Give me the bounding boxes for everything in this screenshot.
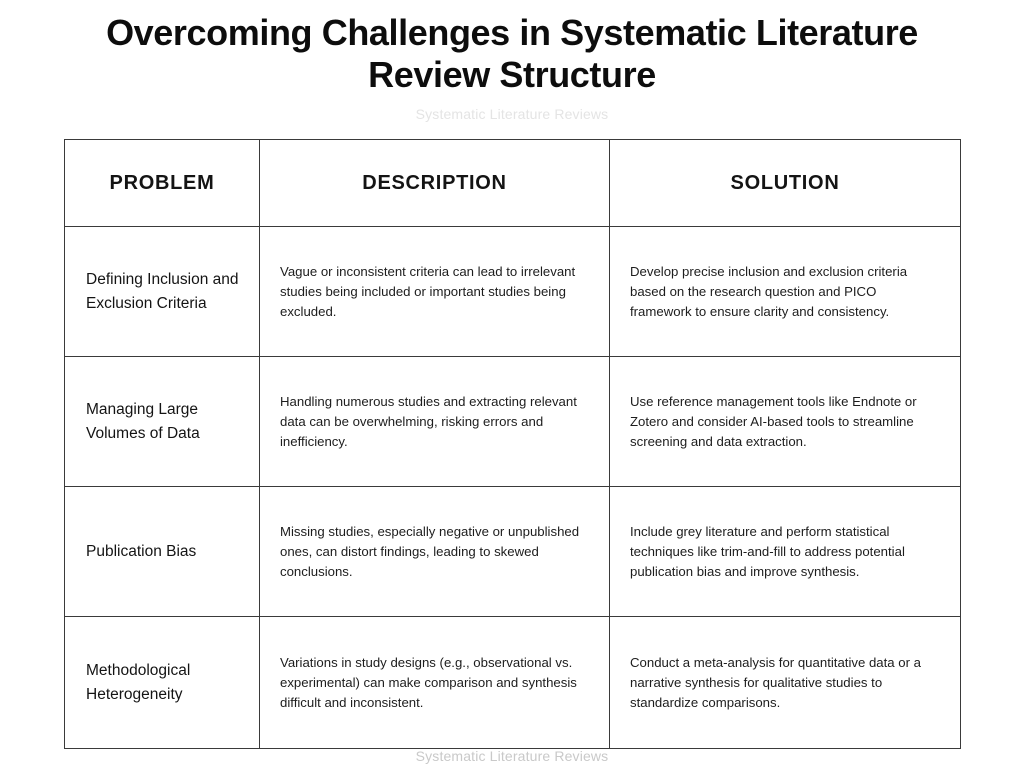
cell-problem: Publication Bias <box>65 487 260 617</box>
slide-canvas: Overcoming Challenges in Systematic Lite… <box>0 0 1024 768</box>
table-row: Managing Large Volumes of Data Handling … <box>65 357 961 487</box>
column-header-description: DESCRIPTION <box>260 140 610 227</box>
cell-description: Missing studies, especially negative or … <box>260 487 610 617</box>
cell-problem: Managing Large Volumes of Data <box>65 357 260 487</box>
table-row: Publication Bias Missing studies, especi… <box>65 487 961 617</box>
table-header: PROBLEM DESCRIPTION SOLUTION <box>65 140 961 227</box>
cell-problem: Defining Inclusion and Exclusion Criteri… <box>65 227 260 357</box>
title-block: Overcoming Challenges in Systematic Lite… <box>0 12 1024 123</box>
table-body: Defining Inclusion and Exclusion Criteri… <box>65 227 961 749</box>
cell-solution: Use reference management tools like Endn… <box>610 357 961 487</box>
cell-problem: Methodological Heterogeneity <box>65 617 260 749</box>
cell-description: Handling numerous studies and extracting… <box>260 357 610 487</box>
footer-watermark: Systematic Literature Reviews <box>0 746 1024 766</box>
column-header-problem: PROBLEM <box>65 140 260 227</box>
cell-solution: Include grey literature and perform stat… <box>610 487 961 617</box>
cell-solution: Develop precise inclusion and exclusion … <box>610 227 961 357</box>
cell-description: Vague or inconsistent criteria can lead … <box>260 227 610 357</box>
table-row: Defining Inclusion and Exclusion Criteri… <box>65 227 961 357</box>
cell-solution: Conduct a meta-analysis for quantitative… <box>610 617 961 749</box>
column-header-solution: SOLUTION <box>610 140 961 227</box>
cell-description: Variations in study designs (e.g., obser… <box>260 617 610 749</box>
page-title: Overcoming Challenges in Systematic Lite… <box>0 12 1024 96</box>
table-header-row: PROBLEM DESCRIPTION SOLUTION <box>65 140 961 227</box>
comparison-table-container: PROBLEM DESCRIPTION SOLUTION Defining In… <box>64 139 960 749</box>
page-subtitle: Systematic Literature Reviews <box>0 105 1024 123</box>
challenges-table: PROBLEM DESCRIPTION SOLUTION Defining In… <box>64 139 961 749</box>
table-row: Methodological Heterogeneity Variations … <box>65 617 961 749</box>
